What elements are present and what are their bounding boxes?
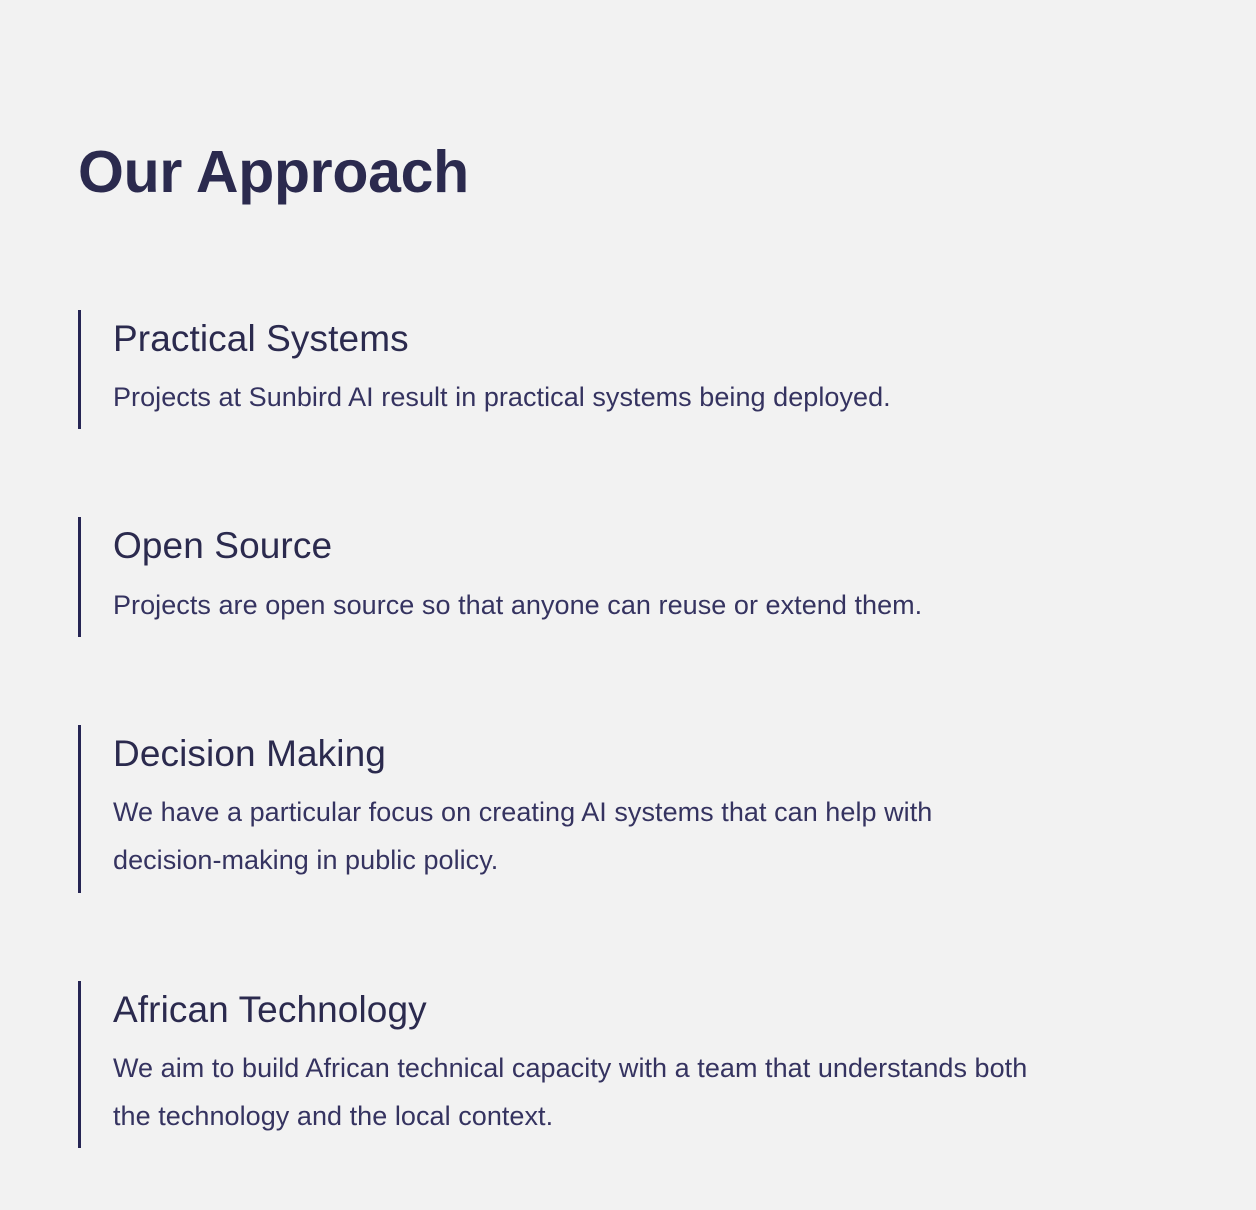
approach-item-body: Projects are open source so that anyone … — [113, 581, 1033, 629]
list-item: Practical Systems Projects at Sunbird AI… — [78, 310, 1148, 429]
page-title: Our Approach — [78, 143, 469, 202]
approach-section: Our Approach Practical Systems Projects … — [0, 0, 1256, 1210]
approach-item-heading: Open Source — [113, 525, 1148, 566]
approach-item-body: We have a particular focus on creating A… — [113, 788, 1033, 884]
list-item: Open Source Projects are open source so … — [78, 517, 1148, 636]
list-item: Decision Making We have a particular foc… — [78, 725, 1148, 893]
list-item: African Technology We aim to build Afric… — [78, 981, 1148, 1149]
approach-item-heading: African Technology — [113, 989, 1148, 1030]
approach-item-heading: Practical Systems — [113, 318, 1148, 359]
approach-item-heading: Decision Making — [113, 733, 1148, 774]
approach-list: Practical Systems Projects at Sunbird AI… — [78, 310, 1148, 1148]
approach-item-body: Projects at Sunbird AI result in practic… — [113, 373, 1033, 421]
approach-item-body: We aim to build African technical capaci… — [113, 1044, 1033, 1140]
